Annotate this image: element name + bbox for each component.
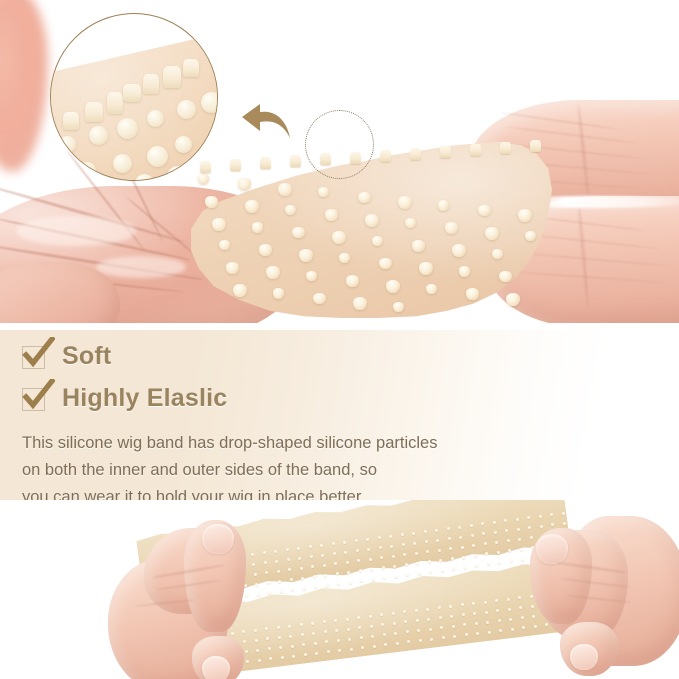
- band-dot: [334, 619, 337, 622]
- band-dot: [475, 622, 478, 625]
- band-dot: [291, 588, 294, 591]
- band-dot: [516, 518, 519, 521]
- band-dot: [337, 582, 340, 585]
- zoom-inset-circle: [50, 13, 218, 181]
- band-dot: [412, 532, 415, 535]
- band-dot: [438, 549, 441, 552]
- band-dot: [448, 537, 451, 540]
- right-hand: [530, 500, 679, 679]
- silicone-particle: [201, 92, 218, 113]
- band-dot: [336, 572, 339, 575]
- band-dot: [435, 529, 438, 532]
- band-dot: [332, 542, 335, 545]
- band-dot: [416, 562, 419, 565]
- silicone-particle: [79, 162, 96, 179]
- band-dot: [494, 531, 497, 534]
- silicone-particle-edge: [63, 112, 79, 130]
- feature-item-elastic: Highly Elaslic: [22, 384, 227, 413]
- band-dot: [425, 540, 428, 543]
- band-dot: [392, 612, 395, 615]
- silicone-particle: [167, 166, 188, 181]
- band-dot: [507, 598, 510, 601]
- band-dot: [323, 564, 326, 567]
- check-square-icon: [22, 344, 48, 370]
- silicone-particle: [147, 110, 164, 127]
- band-dot: [382, 566, 385, 569]
- band-dot: [389, 535, 392, 538]
- band-dot: [348, 638, 351, 641]
- band-dot: [343, 541, 346, 544]
- band-dot: [498, 619, 501, 622]
- feature-label: Soft: [62, 342, 111, 371]
- silicone-particle: [506, 293, 520, 306]
- band-dot: [360, 579, 363, 582]
- product-description: This silicone wig band has drop-shaped s…: [22, 430, 552, 511]
- check-square-icon: [22, 386, 48, 412]
- band-dot: [520, 548, 523, 551]
- band-dot: [378, 536, 381, 539]
- silicone-particle-edge: [163, 66, 181, 88]
- band-dot: [424, 530, 427, 533]
- band-dot: [451, 557, 454, 560]
- band-dot: [314, 585, 317, 588]
- product-feature-image: Soft Highly Elaslic This silicone wig ba…: [0, 0, 679, 679]
- band-dot: [461, 603, 464, 606]
- band-dot: [508, 608, 511, 611]
- band-dot: [393, 622, 396, 625]
- band-dot: [439, 559, 442, 562]
- band-dot: [369, 615, 372, 618]
- band-dot: [372, 578, 375, 581]
- band-dot: [277, 626, 280, 629]
- band-dot: [470, 524, 473, 527]
- silicone-particle-edge: [230, 159, 241, 171]
- silicone-particle-edge: [143, 74, 159, 94]
- band-dot: [464, 566, 467, 569]
- band-dot: [416, 619, 419, 622]
- band-dot: [370, 625, 373, 628]
- band-dot: [393, 565, 396, 568]
- band-dot: [418, 572, 421, 575]
- silicone-particle: [238, 178, 251, 190]
- band-dot: [415, 609, 418, 612]
- band-dot: [300, 567, 303, 570]
- band-dot: [429, 570, 432, 573]
- silicone-particle-edge: [107, 92, 123, 114]
- left-hand: [108, 518, 268, 679]
- band-dot: [286, 548, 289, 551]
- band-dot: [360, 636, 363, 639]
- band-dot: [301, 577, 304, 580]
- band-dot: [442, 636, 445, 639]
- band-dot: [314, 642, 317, 645]
- band-dot: [326, 584, 329, 587]
- band-dot: [430, 638, 433, 641]
- band-dot: [347, 628, 350, 631]
- band-dot: [453, 635, 456, 638]
- silicone-particle-edge: [260, 157, 271, 169]
- band-dot: [493, 521, 496, 524]
- band-dot: [447, 527, 450, 530]
- silicone-particle-edge: [290, 155, 301, 167]
- band-dot: [471, 534, 474, 537]
- band-dot: [292, 655, 295, 658]
- band-dot: [274, 550, 277, 553]
- band-dot: [383, 576, 386, 579]
- band-dot: [452, 625, 455, 628]
- band-dot: [278, 636, 281, 639]
- band-dot: [349, 581, 352, 584]
- band-dot: [291, 645, 294, 648]
- silicone-particle: [117, 118, 138, 139]
- band-dot: [288, 625, 291, 628]
- band-dot: [281, 656, 284, 659]
- band-dot: [303, 587, 306, 590]
- band-dot: [347, 571, 350, 574]
- band-dot: [488, 631, 491, 634]
- description-line: on both the inner and outer sides of the…: [22, 457, 552, 484]
- silicone-particle: [147, 146, 168, 167]
- band-dot: [396, 642, 399, 645]
- silicone-particle-edge: [85, 102, 103, 122]
- band-dot: [355, 539, 358, 542]
- band-dot: [309, 545, 312, 548]
- band-dot: [401, 533, 404, 536]
- band-dot: [510, 559, 513, 562]
- band-dot: [487, 562, 490, 565]
- band-dot: [304, 653, 307, 656]
- band-dot: [324, 574, 327, 577]
- silicone-particle-edge: [123, 84, 141, 102]
- band-dot: [392, 555, 395, 558]
- band-dot: [497, 551, 500, 554]
- band-dot: [277, 570, 280, 573]
- silicone-particle: [175, 136, 192, 153]
- band-dot: [485, 552, 488, 555]
- silicone-particle: [113, 154, 132, 173]
- band-dot: [486, 621, 489, 624]
- silicone-band-closeup-photo: [0, 0, 679, 323]
- band-dot: [441, 569, 444, 572]
- zoom-source-marker: [305, 110, 374, 179]
- band-dot: [300, 623, 303, 626]
- silicone-particle: [177, 100, 196, 119]
- band-dot: [415, 552, 418, 555]
- band-dot: [461, 546, 464, 549]
- band-dot: [313, 575, 316, 578]
- band-dot: [402, 543, 405, 546]
- band-dot: [268, 591, 271, 594]
- band-dot: [438, 606, 441, 609]
- band-stretch-demo-photo: [0, 500, 679, 679]
- silicone-particle: [59, 136, 76, 153]
- band-dot: [320, 544, 323, 547]
- band-dot: [373, 645, 376, 648]
- band-dot: [346, 561, 349, 564]
- band-dot: [297, 547, 300, 550]
- band-dot: [370, 568, 373, 571]
- silicone-particle: [89, 126, 108, 145]
- band-dot: [458, 526, 461, 529]
- band-dot: [474, 554, 477, 557]
- band-dot: [346, 618, 349, 621]
- band-dot: [426, 608, 429, 611]
- zoom-pointer-arrow: [240, 100, 292, 142]
- band-dot: [419, 639, 422, 642]
- band-dot: [315, 652, 318, 655]
- description-line: This silicone wig band has drop-shaped s…: [22, 430, 552, 457]
- band-dot: [311, 622, 314, 625]
- band-dot: [517, 528, 520, 531]
- band-dot: [511, 628, 514, 631]
- band-dot: [369, 558, 372, 561]
- band-dot: [485, 611, 488, 614]
- band-dot: [498, 561, 501, 564]
- band-dot: [337, 639, 340, 642]
- band-dot: [429, 628, 432, 631]
- feature-text-panel: Soft Highly Elaslic This silicone wig ba…: [0, 330, 679, 520]
- band-dot: [350, 648, 353, 651]
- blurred-fingertip: [0, 0, 48, 172]
- feature-label: Highly Elaslic: [62, 384, 227, 413]
- band-dot: [405, 563, 408, 566]
- band-dot: [484, 601, 487, 604]
- band-dot: [508, 549, 511, 552]
- band-dot: [428, 560, 431, 563]
- band-dot: [462, 556, 465, 559]
- band-dot: [366, 538, 369, 541]
- band-dot: [472, 602, 475, 605]
- feature-item-soft: Soft: [22, 342, 111, 371]
- band-dot: [280, 590, 283, 593]
- silicone-particle-edge: [530, 140, 541, 152]
- silicone-particle-edge: [183, 59, 199, 77]
- band-dot: [395, 575, 398, 578]
- band-dot: [521, 558, 524, 561]
- band-dot: [359, 569, 362, 572]
- band-dot: [406, 573, 409, 576]
- band-dot: [449, 605, 452, 608]
- band-dot: [475, 564, 478, 567]
- band-dot: [278, 580, 281, 583]
- band-dot: [452, 567, 455, 570]
